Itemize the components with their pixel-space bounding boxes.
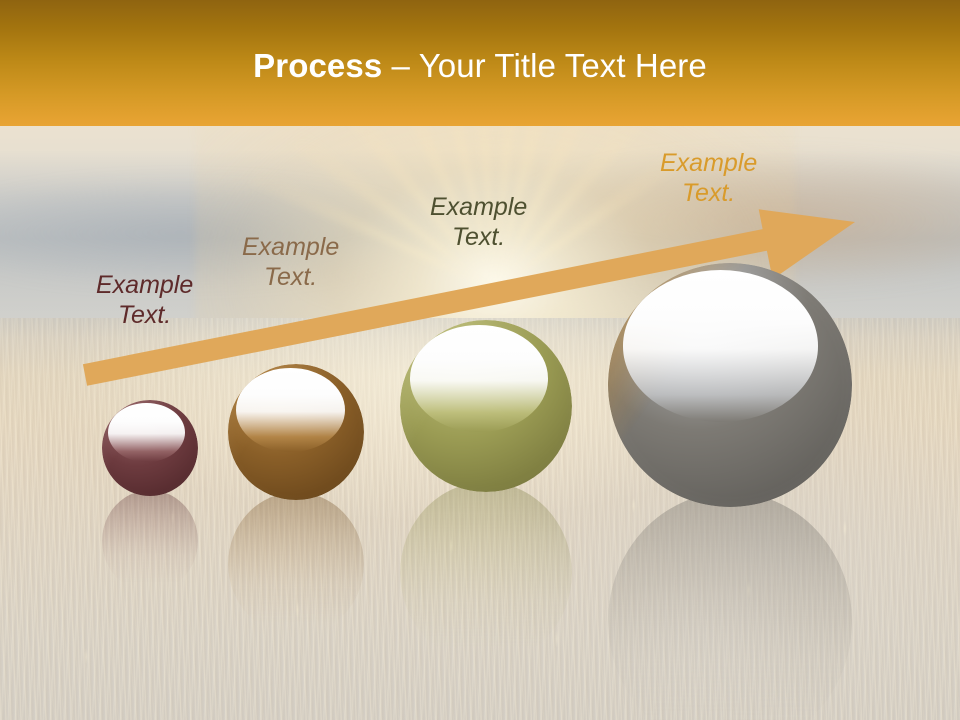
- sphere-step-3-highlight: [410, 325, 548, 432]
- page-title: Process – Your Title Text Here: [0, 46, 960, 86]
- sphere-step-4-highlight: [623, 270, 818, 421]
- step-label-4-line1: Example: [660, 149, 757, 177]
- step-label-4[interactable]: ExampleText.: [660, 148, 757, 208]
- sphere-step-4[interactable]: [608, 263, 852, 507]
- title-dash: –: [382, 47, 418, 84]
- sphere-step-1[interactable]: [102, 400, 198, 496]
- step-label-1-line2: Text.: [96, 300, 193, 330]
- sphere-step-1-highlight: [108, 403, 185, 463]
- step-label-3-line1: Example: [430, 193, 527, 221]
- step-label-3[interactable]: ExampleText.: [430, 192, 527, 252]
- step-label-3-line2: Text.: [430, 222, 527, 252]
- sphere-step-3-shape: [400, 320, 572, 492]
- step-label-1-line1: Example: [96, 271, 193, 299]
- sphere-step-3[interactable]: [400, 320, 572, 492]
- title-rest: Your Title Text Here: [419, 47, 707, 84]
- sphere-step-2[interactable]: [228, 364, 364, 500]
- title-bar: Process – Your Title Text Here: [0, 0, 960, 126]
- step-label-2-line1: Example: [242, 233, 339, 261]
- title-strong: Process: [253, 47, 382, 84]
- step-label-2[interactable]: ExampleText.: [242, 232, 339, 292]
- step-label-4-line2: Text.: [660, 178, 757, 208]
- sphere-step-1-shape: [102, 400, 198, 496]
- sphere-step-2-highlight: [236, 368, 345, 452]
- step-label-1[interactable]: ExampleText.: [96, 270, 193, 330]
- slide-canvas: ExampleText.ExampleText.ExampleText.Exam…: [0, 0, 960, 720]
- step-label-2-line2: Text.: [242, 262, 339, 292]
- sphere-step-4-shape: [608, 263, 852, 507]
- sphere-step-2-shape: [228, 364, 364, 500]
